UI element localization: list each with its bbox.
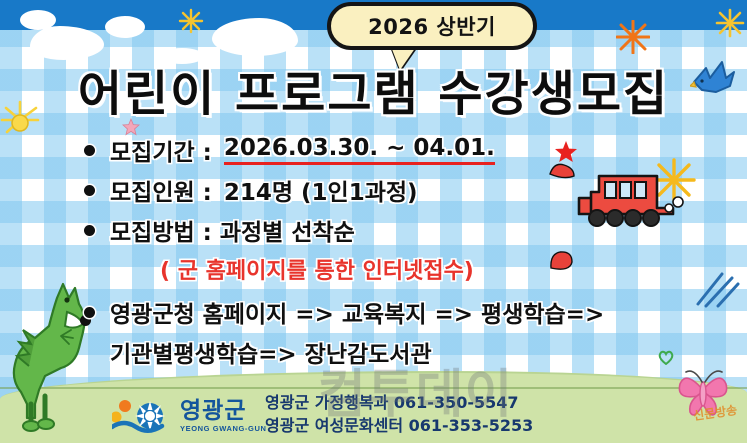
- season-badge-label: 2026 상반기: [368, 11, 496, 41]
- logo-text: 영광군 YEONG GWANG-GUN: [180, 400, 267, 433]
- bullet-icon: [84, 145, 95, 156]
- application-path-line2: 기관별평생학습=> 장난감도서관: [110, 335, 432, 369]
- list-item: ( 군 홈페이지를 통한 인터넷접수): [84, 250, 724, 288]
- list-item: 모집기간 : 2026.03.30. ~ 04.01.: [84, 130, 724, 170]
- bullet-icon: [84, 225, 95, 236]
- logo-korean-name: 영광군: [180, 400, 267, 423]
- online-application-note: ( 군 홈페이지를 통한 인터넷접수): [160, 253, 474, 285]
- ground-horizon-line: [0, 387, 747, 389]
- logo-mark-icon: [112, 395, 174, 437]
- recruit-method-value: 과정별 선착순: [220, 213, 355, 247]
- contact-line-2: 영광군 여성문화센터 061-353-5253: [265, 414, 735, 437]
- recruit-method-label: 모집방법 :: [110, 213, 212, 247]
- list-item: 모집방법 : 과정별 선착순: [84, 210, 724, 250]
- recruit-period-value: 2026.03.30. ~ 04.01.: [224, 135, 495, 165]
- recruit-period-label: 모집기간 :: [110, 133, 212, 167]
- list-item: 모집인원 : 214명 (1인1과정): [84, 170, 724, 210]
- yeonggwang-gun-logo: 영광군 YEONG GWANG-GUN: [112, 395, 267, 437]
- details-list: 모집기간 : 2026.03.30. ~ 04.01. 모집인원 : 214명 …: [84, 130, 724, 372]
- list-item: 영광군청 홈페이지 => 교육복지 => 평생학습=>: [84, 292, 724, 332]
- contact-info: 영광군 가정행복과 061-350-5547 영광군 여성문화센터 061-35…: [265, 391, 735, 437]
- page-title: 어린이 프로그램 수강생모집: [0, 54, 747, 124]
- bullet-icon: [84, 185, 95, 196]
- recruit-count-value: 214명 (1인1과정): [224, 173, 418, 207]
- recruit-count-label: 모집인원 :: [110, 173, 212, 207]
- bullet-icon: [84, 307, 95, 318]
- logo-english-name: YEONG GWANG-GUN: [180, 425, 267, 433]
- season-badge: 2026 상반기: [327, 2, 537, 50]
- application-path-line1: 영광군청 홈페이지 => 교육복지 => 평생학습=>: [110, 295, 604, 329]
- poster-canvas: 2026 상반기 어린이 프로그램 수강생모집 모집기간 : 2026.03.3…: [0, 0, 747, 443]
- list-item: 기관별평생학습=> 장난감도서관: [84, 332, 724, 372]
- contact-line-1: 영광군 가정행복과 061-350-5547: [265, 391, 735, 414]
